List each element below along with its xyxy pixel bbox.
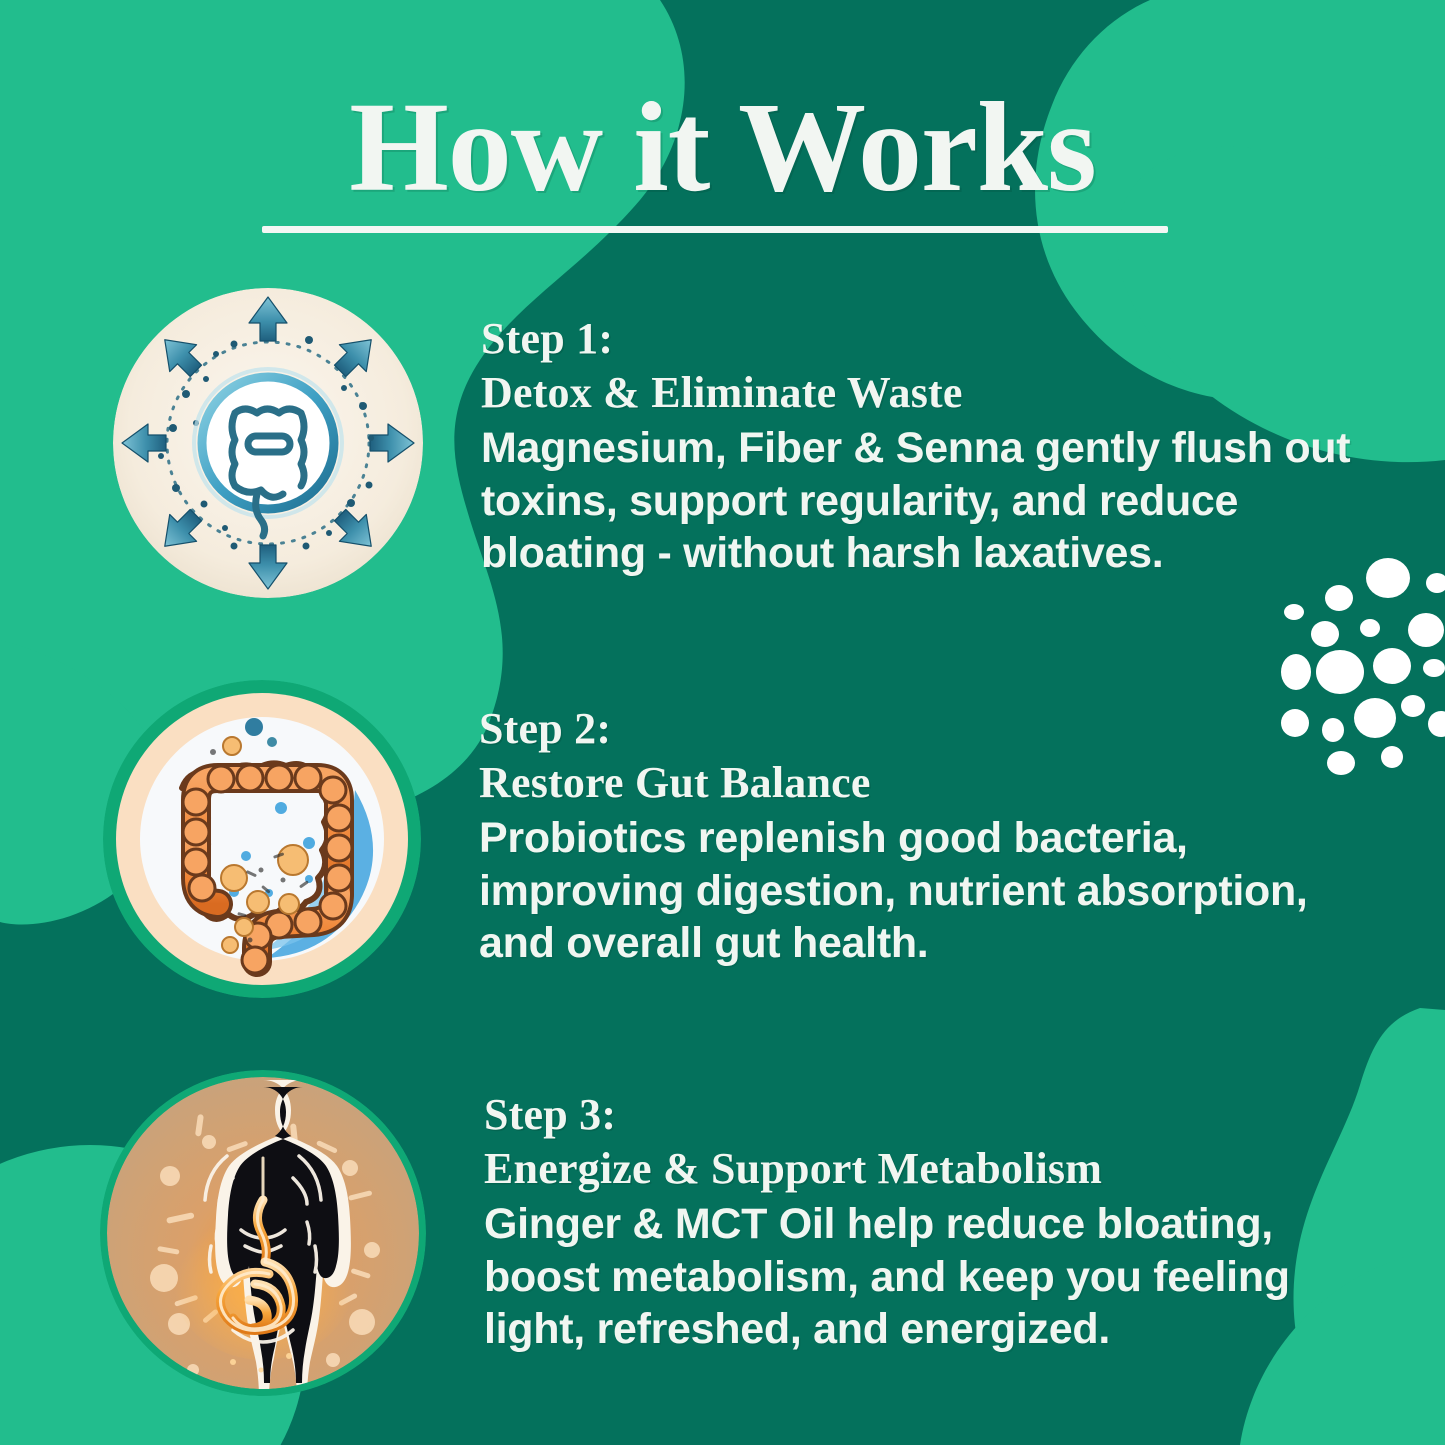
step-label: Step 3: xyxy=(484,1088,1385,1142)
step-label: Step 1: xyxy=(481,312,1385,366)
colon-probiotics-icon xyxy=(103,680,421,998)
step-body: Magnesium, Fiber & Senna gently flush ou… xyxy=(481,422,1385,579)
step-3-text: Step 3: Energize & Support Metabolism Gi… xyxy=(426,1070,1445,1356)
step-heading: Detox & Eliminate Waste xyxy=(481,366,1385,421)
infographic-canvas: How it Works xyxy=(0,0,1445,1445)
page-title: How it Works xyxy=(0,78,1445,216)
step-heading: Restore Gut Balance xyxy=(479,756,1385,811)
step-item: Step 3: Energize & Support Metabolism Gi… xyxy=(0,1070,1445,1430)
body-silhouette-digestion-icon xyxy=(100,1070,426,1396)
step-2-icon-wrap xyxy=(103,680,421,998)
step-body: Probiotics replenish good bacteria, impr… xyxy=(479,812,1385,969)
header: How it Works xyxy=(0,78,1445,216)
step-1-text: Step 1: Detox & Eliminate Waste Magnesiu… xyxy=(423,288,1445,580)
step-body: Ginger & MCT Oil help reduce bloating, b… xyxy=(484,1198,1385,1355)
step-label: Step 2: xyxy=(479,702,1385,756)
title-underline xyxy=(262,226,1168,233)
step-3-icon-wrap xyxy=(100,1070,426,1396)
step-item: Step 1: Detox & Eliminate Waste Magnesiu… xyxy=(0,288,1445,680)
step-item: Step 2: Restore Gut Balance Probiotics r… xyxy=(0,680,1445,1070)
steps-list: Step 1: Detox & Eliminate Waste Magnesiu… xyxy=(0,288,1445,1430)
detox-intestine-arrows-icon xyxy=(113,288,423,598)
step-heading: Energize & Support Metabolism xyxy=(484,1142,1385,1197)
step-2-text: Step 2: Restore Gut Balance Probiotics r… xyxy=(421,680,1445,970)
step-1-icon-wrap xyxy=(113,288,423,598)
